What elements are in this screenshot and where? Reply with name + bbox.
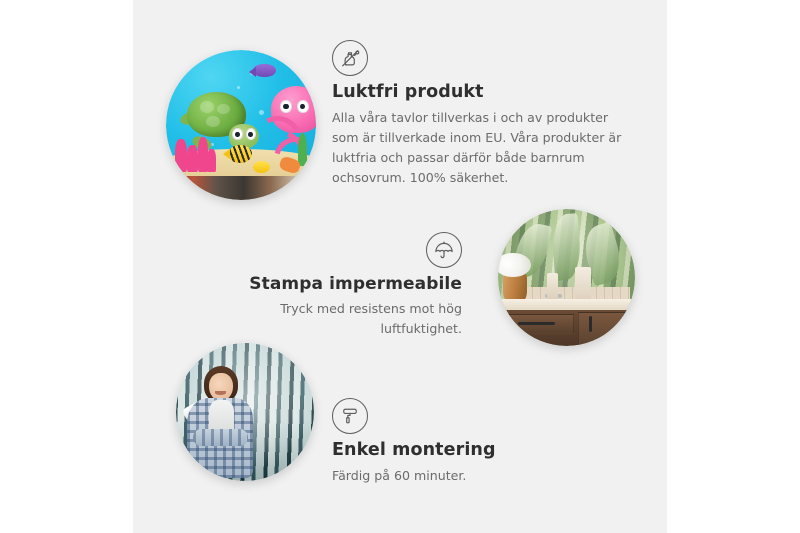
bubble-icon (259, 110, 264, 115)
fish-small-icon (253, 161, 270, 173)
tile-backsplash (509, 287, 630, 299)
feature-description: Färdig på 60 minuter. (332, 466, 582, 486)
seaweed (298, 133, 307, 166)
bath-accessory (547, 273, 558, 299)
paint-roller-icon (332, 398, 368, 434)
turtle-scute (200, 101, 214, 113)
drawer-handle (518, 322, 555, 325)
photo-underwater-image (166, 50, 316, 200)
coral (207, 149, 216, 172)
door-handle (589, 316, 592, 332)
fish-yellow-tail (223, 149, 230, 159)
feature-icon-row (332, 40, 622, 76)
screenshot-root: Luktfri produkt Alla våra tavlor tillver… (0, 0, 800, 533)
fish-purple-tail (249, 67, 256, 77)
turtle-scute (217, 104, 230, 115)
feature-title: Stampa impermeabile (200, 274, 462, 295)
feature-icon-row (200, 232, 462, 268)
feature-icon-row (332, 398, 582, 434)
photo-underwater (166, 50, 316, 200)
sea-photo-strip (166, 176, 316, 200)
woman-folded-arms (193, 429, 248, 447)
feature-block-odour-free: Luktfri produkt Alla våra tavlor tillver… (332, 40, 622, 187)
turtle-eye (232, 128, 243, 140)
fish-purple-icon (253, 64, 276, 78)
bath-accessory (575, 267, 591, 303)
photo-decorator-image (176, 343, 314, 481)
feature-block-waterproof: Stampa impermeabile Tryck med resistens … (200, 232, 462, 339)
photo-bathroom (498, 209, 635, 346)
coral (187, 145, 198, 172)
feature-description: Alla våra tavlor tillverkas i och av pro… (332, 108, 622, 188)
feature-block-easy-mounting: Enkel montering Färdig på 60 minuter. (332, 398, 582, 486)
photo-decorator (176, 343, 314, 481)
no-fragrance-icon (332, 40, 368, 76)
photo-bathroom-image (498, 209, 635, 346)
feature-description: Tryck med resistens mot hög luftfuktighe… (200, 299, 462, 339)
feature-title: Luktfri produkt (332, 82, 622, 104)
octopus-eye (297, 100, 309, 114)
bubble-icon (237, 86, 240, 89)
umbrella-icon (426, 232, 462, 268)
vanity-door (578, 312, 635, 346)
coral (175, 139, 187, 172)
wooden-vanity (501, 310, 635, 346)
fish-yellow-icon (228, 145, 252, 163)
woman-face (209, 373, 232, 401)
turtle-scute (206, 116, 220, 127)
feature-title: Enkel montering (332, 440, 582, 462)
octopus-eye (280, 100, 292, 114)
